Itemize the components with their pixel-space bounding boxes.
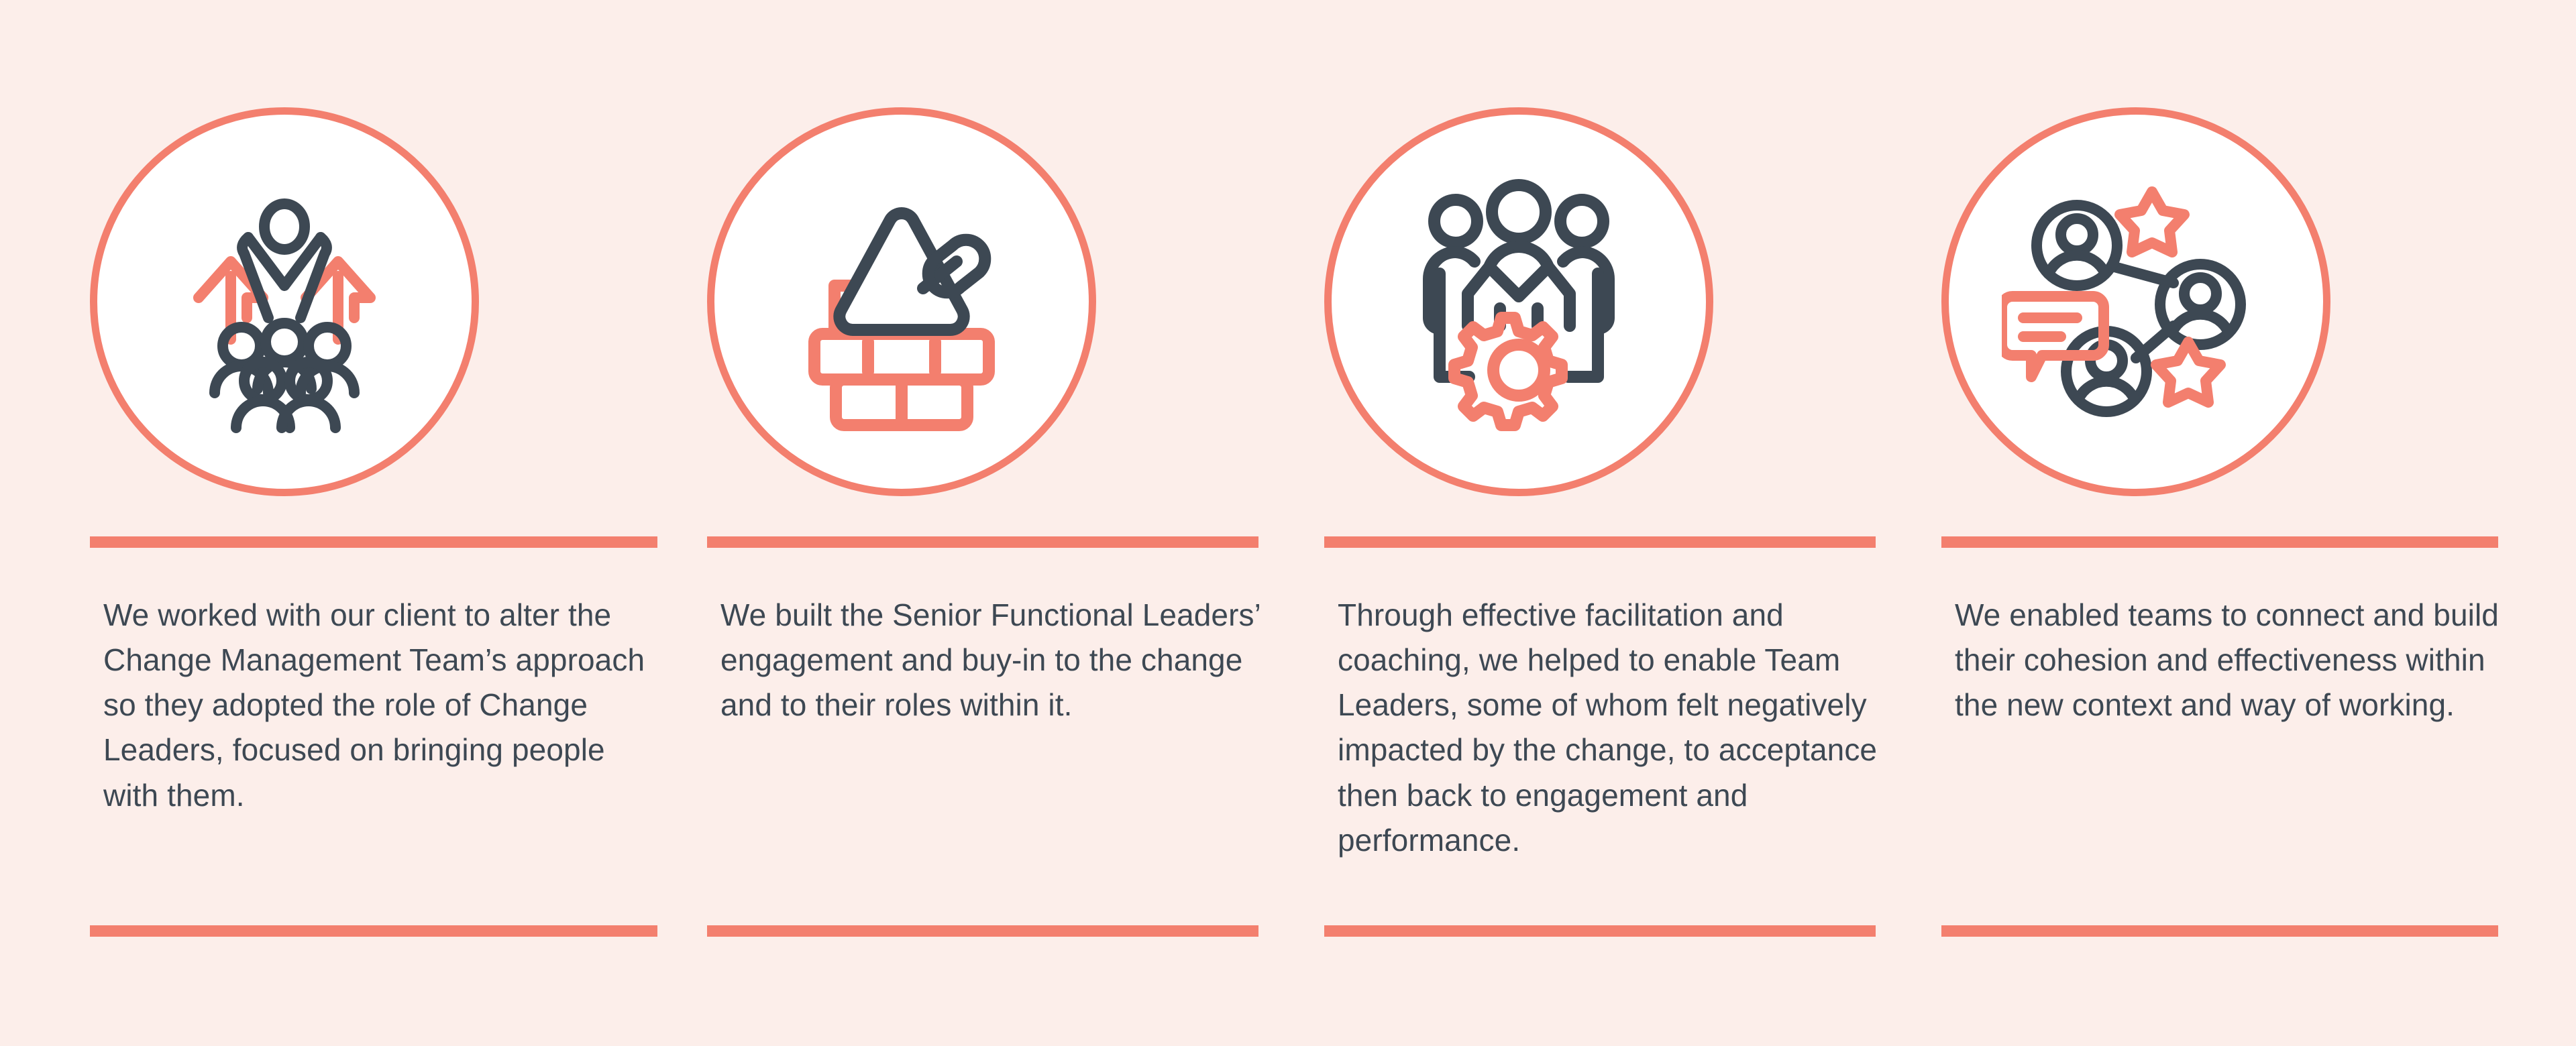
column-body-4: We enabled teams to connect and build th… bbox=[1955, 593, 2512, 728]
column-body-3: Through effective facilitation and coach… bbox=[1338, 593, 1894, 863]
icon-medallion-4 bbox=[1941, 107, 2330, 496]
divider-top-3 bbox=[1324, 536, 1876, 548]
icon-medallion-2 bbox=[707, 107, 1096, 496]
column-1: We worked with our client to alter the C… bbox=[74, 0, 678, 1046]
people-growth-arrows-icon bbox=[150, 168, 419, 436]
infographic-board: We worked with our client to alter the C… bbox=[0, 0, 2576, 1046]
trowel-brick-wall-icon bbox=[767, 168, 1036, 436]
column-grid: We worked with our client to alter the C… bbox=[0, 0, 2576, 1046]
divider-top-2 bbox=[707, 536, 1258, 548]
icon-medallion-3 bbox=[1324, 107, 1713, 496]
column-body-1: We worked with our client to alter the C… bbox=[103, 593, 660, 818]
divider-top-4 bbox=[1941, 536, 2498, 548]
divider-top-1 bbox=[90, 536, 657, 548]
column-body-2: We built the Senior Functional Leaders’ … bbox=[720, 593, 1277, 728]
column-3: Through effective facilitation and coach… bbox=[1308, 0, 1912, 1046]
column-2: We built the Senior Functional Leaders’ … bbox=[691, 0, 1295, 1046]
divider-bottom-3 bbox=[1324, 925, 1876, 937]
icon-medallion-1 bbox=[90, 107, 479, 496]
column-4: We enabled teams to connect and build th… bbox=[1925, 0, 2529, 1046]
divider-bottom-4 bbox=[1941, 925, 2498, 937]
connected-team-network-icon bbox=[2002, 168, 2270, 436]
divider-bottom-2 bbox=[707, 925, 1258, 937]
team-gear-icon bbox=[1385, 168, 1653, 436]
divider-bottom-1 bbox=[90, 925, 657, 937]
